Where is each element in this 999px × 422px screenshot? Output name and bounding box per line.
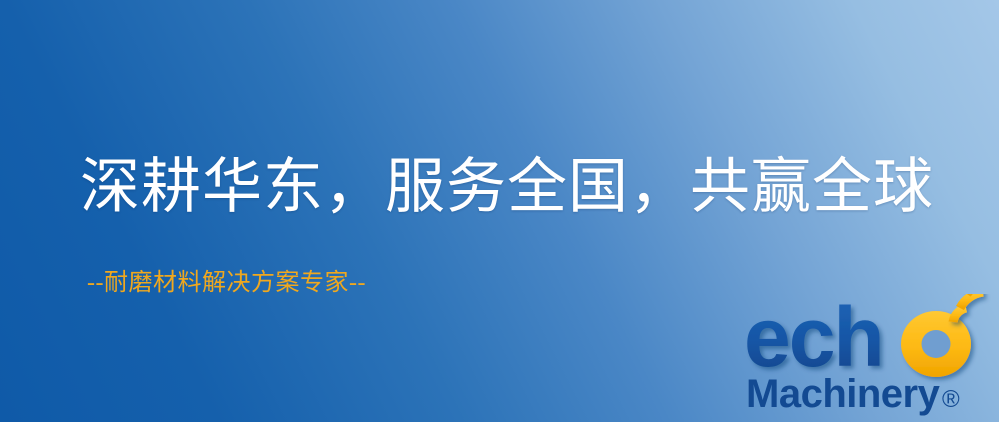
radio-wave-icon [953, 294, 998, 322]
logo-text-ech: ech [744, 294, 883, 384]
logo-letter-o [901, 311, 971, 377]
logo-graphic: ech Machinery ® [744, 294, 999, 418]
page-subtitle: --耐磨材料解决方案专家-- [87, 268, 366, 298]
hero-banner: 深耕华东，服务全国，共赢全球 --耐磨材料解决方案专家-- [0, 0, 999, 422]
logo-tagline-group: Machinery ® [746, 372, 960, 416]
company-logo: ech Machinery ® [744, 294, 999, 418]
logo-wordmark-ech: ech [744, 294, 883, 384]
logo-tagline: Machinery [746, 372, 941, 416]
page-title: 深耕华东，服务全国，共赢全球 [80, 152, 934, 222]
registered-trademark-icon: ® [942, 386, 960, 413]
